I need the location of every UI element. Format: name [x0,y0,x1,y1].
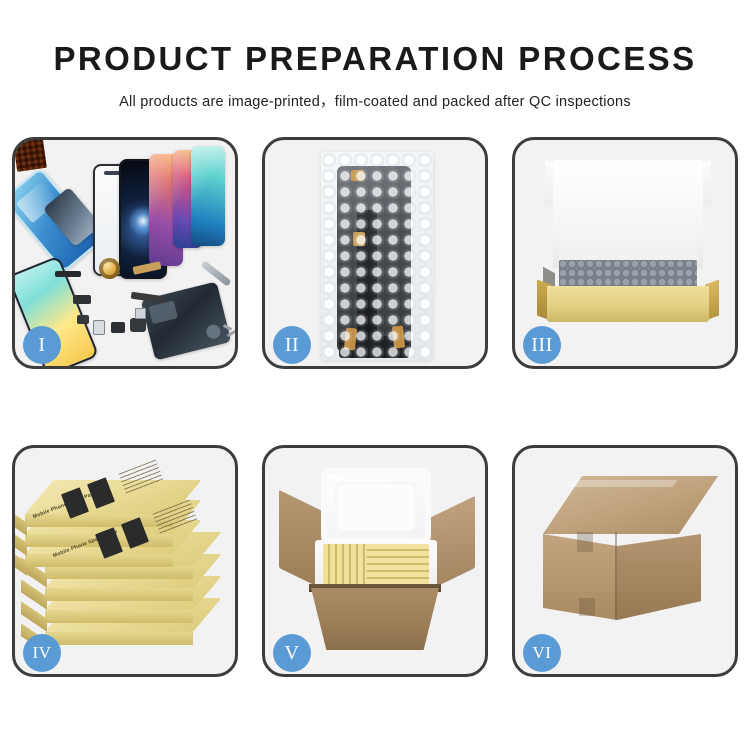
process-step-1: I [12,137,238,369]
step-badge-3: III [523,326,561,364]
phone-teal-image [191,146,225,246]
step-badge-5: V [273,634,311,672]
carton-tape-patch-bottom [579,598,595,616]
header: PRODUCT PREPARATION PROCESS All products… [0,0,750,111]
foam-cooler-lid-image [321,468,431,544]
process-step-6: VI [512,445,738,677]
process-step-5: V [262,445,488,677]
small-part-6 [135,308,146,319]
packed-boxes-group [323,544,429,588]
step-badge-4: IV [23,634,61,672]
bubble-wrapped-contents-image [559,260,697,288]
step-badge-6: VI [523,634,561,672]
speaker-part-image [55,271,81,277]
packed-boxes-horizontal [367,544,429,588]
phone-back-housing-image [141,281,232,360]
carton-tape-patch-top [577,532,593,552]
carton-vertical-edge [615,532,617,620]
part-center-strip [357,210,377,338]
product-preparation-infographic: PRODUCT PREPARATION PROCESS All products… [0,0,750,750]
carton-right-face [617,534,701,620]
small-part-5 [130,318,146,332]
process-step-grid: I II [12,137,738,677]
process-step-3: III [512,137,738,369]
step-badge-2: II [273,326,311,364]
foam-sheet-image [559,186,697,262]
small-part-4 [111,322,125,333]
small-part-1 [73,295,91,304]
connector-gold-3 [344,327,357,350]
camera-ring-icon [99,258,120,279]
connector-gold-2 [353,232,365,246]
kraft-box-front-image [547,286,709,322]
process-step-4: Mobile Phone Spare Parts Mobile Phone Sp… [12,445,238,677]
carton-body-image [311,588,439,650]
small-part-2 [77,315,89,324]
packed-boxes-vertical [323,544,367,588]
small-part-3 [93,320,105,335]
process-step-2: II [262,137,488,369]
page-subtitle: All products are image-printed，film-coat… [0,77,750,111]
connector-gold-4 [392,325,405,348]
screwdriver-icon [200,260,231,286]
carton-top-seam [565,480,678,487]
page-title: PRODUCT PREPARATION PROCESS [0,0,750,77]
step-badge-1: I [23,326,61,364]
connector-gold-1 [351,170,364,181]
copper-mesh-image [15,140,47,172]
